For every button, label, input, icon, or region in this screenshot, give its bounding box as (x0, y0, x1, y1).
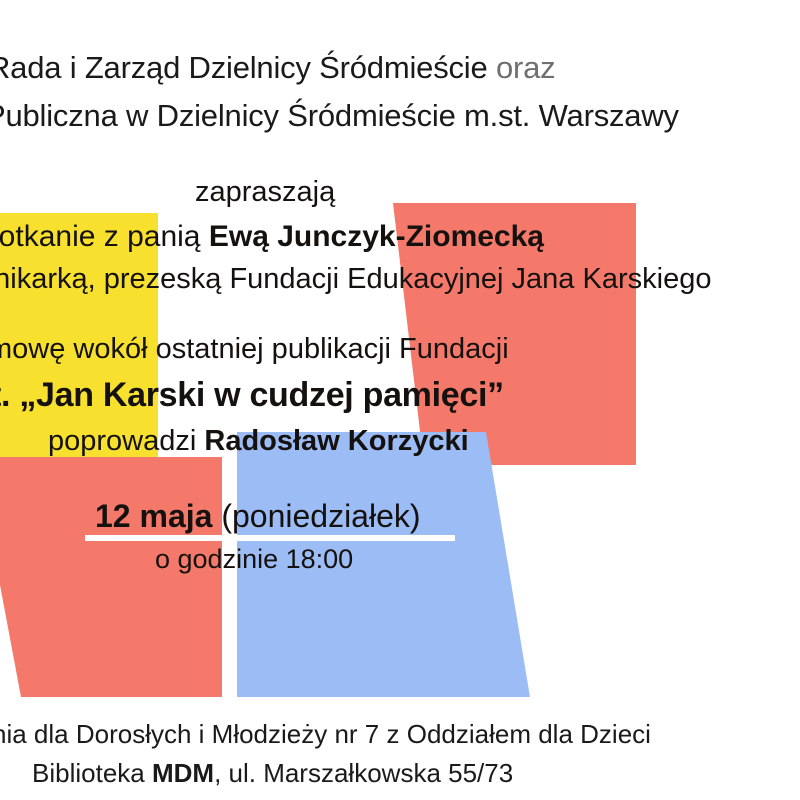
invite-meeting-line: potkanie z panią Ewą Junczyk-Ziomecką (0, 222, 544, 252)
invite-verb: zapraszają (195, 178, 335, 207)
book-title: t. „Jan Karski w cudzej pamięci” (0, 378, 504, 412)
guest-description: nnikarką, prezeską Fundacji Edukacyjnej … (0, 265, 711, 294)
event-weekday: (poniedziałek) (212, 498, 420, 534)
venue-address: , ul. Marszałkowska 55/73 (214, 758, 513, 788)
host-line: poprowadzi Radosław Korzycki (48, 427, 469, 456)
event-date: 12 maja (95, 498, 212, 534)
talk-subject-line: mowę wokół ostatniej publikacji Fundacji (0, 335, 509, 364)
venue-line-1: nia dla Dorosłych i Młodzieży nr 7 z Odd… (0, 721, 651, 747)
organizer-line-1-main: Rada i Zarząd Dzielnicy Śródmieście (0, 50, 488, 85)
organizer-line-1-conjunction: oraz (488, 50, 556, 85)
event-date-line: 12 maja (poniedziałek) (95, 500, 421, 532)
event-poster: Rada i Zarząd Dzielnicy Śródmieście oraz… (0, 0, 800, 800)
venue-line-2: Biblioteka MDM, ul. Marszałkowska 55/73 (32, 760, 513, 786)
organizer-line-2: Publiczna w Dzielnicy Śródmieście m.st. … (0, 100, 679, 131)
host-name: Radosław Korzycki (204, 425, 468, 457)
invite-meeting-prefix: potkanie z panią (0, 220, 209, 253)
text-layer: Rada i Zarząd Dzielnicy Śródmieście oraz… (0, 0, 800, 800)
date-block: 12 maja (poniedziałek) (95, 500, 421, 532)
host-prefix: poprowadzi (48, 425, 204, 457)
guest-name: Ewą Junczyk-Ziomecką (209, 220, 544, 253)
venue-name: MDM (152, 758, 214, 788)
event-time: o godzinie 18:00 (155, 546, 353, 573)
organizer-line-1: Rada i Zarząd Dzielnicy Śródmieście oraz (0, 52, 555, 83)
date-underline-bar (85, 535, 455, 541)
venue-prefix: Biblioteka (32, 758, 152, 788)
